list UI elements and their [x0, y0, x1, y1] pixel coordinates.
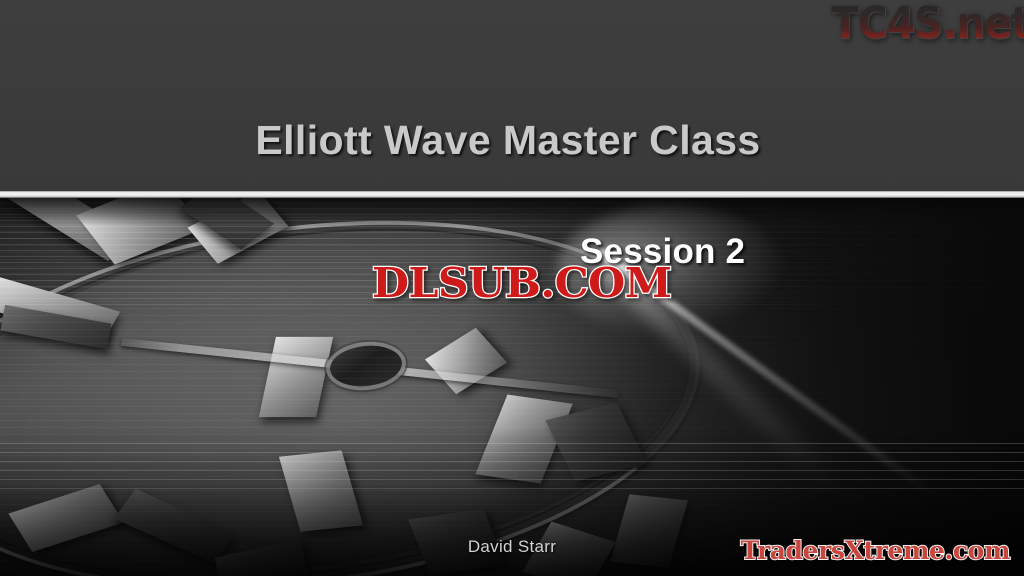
- presentation-slide: TC4S.net Elliott Wave Master Class: [0, 0, 1024, 576]
- tradersxtreme-brand-logo[interactable]: TradersXtreme.com: [741, 536, 1010, 566]
- slide-title: Elliott Wave Master Class: [0, 117, 1024, 164]
- dark-top-overlay: [0, 196, 1024, 226]
- header-divider: [0, 191, 1024, 198]
- dlsub-watermark: DLSUB.COM: [372, 262, 671, 304]
- background-image: [0, 196, 1024, 576]
- tc4s-site-logo[interactable]: TC4S.net: [832, 0, 1024, 49]
